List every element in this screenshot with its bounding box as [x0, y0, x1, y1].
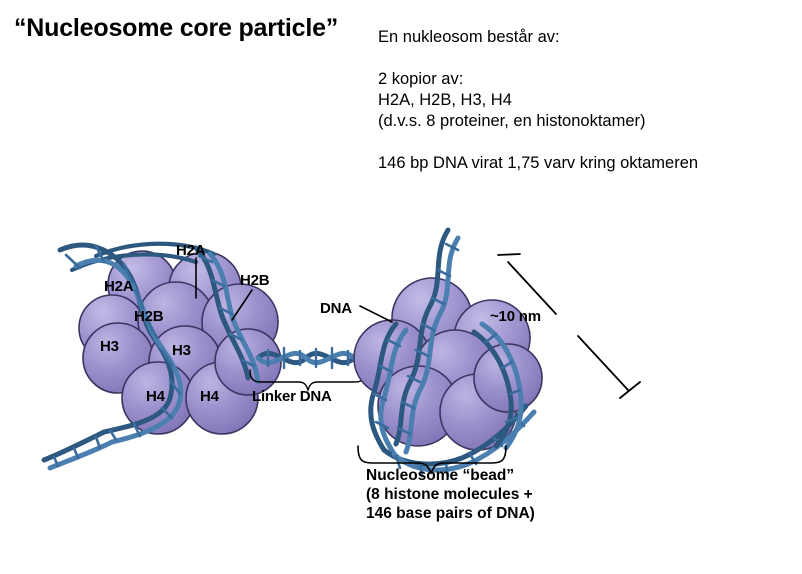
label-scale-10nm: ~10 nm	[490, 308, 541, 325]
bead-caption: Nucleosome “bead” (8 histone molecules +…	[366, 466, 535, 523]
label-h2a-inner: H2A	[104, 278, 133, 295]
description-spacer-2	[378, 132, 788, 153]
description-line-4: (d.v.s. 8 proteiner, en histonoktamer)	[378, 111, 788, 132]
description-line-5: 146 bp DNA virat 1,75 varv kring oktamer…	[378, 153, 788, 174]
label-h3-right: H3	[172, 342, 191, 359]
bead-caption-line-3: 146 base pairs of DNA)	[366, 504, 535, 523]
label-h2a-top: H2A	[176, 242, 205, 259]
label-h4-left: H4	[146, 388, 165, 405]
label-h2b-inner: H2B	[134, 308, 163, 325]
label-linker-dna: Linker DNA	[252, 388, 332, 405]
description-line-3: H2A, H2B, H3, H4	[378, 90, 788, 111]
nucleosome-diagram-svg	[0, 210, 660, 550]
nucleosome-diagram: H2A H2B H2A H2B H3 H3 H4 H4 Linker DNA D…	[0, 210, 660, 550]
label-h2b-top: H2B	[240, 272, 269, 289]
slide-canvas: “Nucleosome core particle” En nukleosom …	[0, 0, 802, 574]
leader-dna	[360, 306, 392, 322]
description-spacer-1	[378, 48, 788, 69]
description-line-2: 2 kopior av:	[378, 69, 788, 90]
right-nucleosome-bead	[354, 230, 542, 476]
page-title: “Nucleosome core particle”	[14, 14, 338, 43]
bead-caption-line-1: Nucleosome “bead”	[366, 466, 535, 485]
label-dna: DNA	[320, 300, 352, 317]
bead-caption-line-2: (8 histone molecules +	[366, 485, 535, 504]
description-text-block: En nukleosom består av: 2 kopior av: H2A…	[378, 27, 788, 174]
label-h4-right: H4	[200, 388, 219, 405]
description-line-1: En nukleosom består av:	[378, 27, 788, 48]
dna-tail-bottom-left	[44, 432, 112, 468]
label-h3-left: H3	[100, 338, 119, 355]
